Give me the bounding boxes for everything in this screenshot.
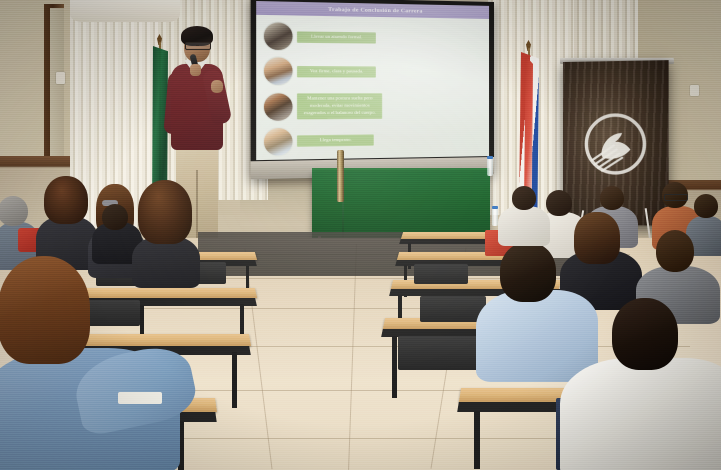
- desk-leg: [392, 336, 397, 398]
- slide-bullet-text: Llevar un atuendo formal.: [297, 31, 376, 43]
- eyeglasses-icon: [185, 42, 211, 50]
- slide-bullet-text: Mantener una postura suelta pero moderad…: [297, 93, 382, 119]
- slide-body: Llevar un atuendo formal. Voz firme, cla…: [256, 15, 489, 160]
- slide-bullet-text: Llega temprano.: [297, 135, 374, 147]
- paper-on-desk: [118, 392, 162, 404]
- speaker-hand-right: [211, 80, 223, 93]
- student-white-shirt-front: [560, 298, 721, 470]
- water-bottle-cap: [487, 156, 493, 159]
- student-head: [138, 180, 192, 244]
- student-head: [500, 242, 556, 302]
- door-panel-left: [50, 8, 64, 160]
- student-back-row-center: [498, 186, 550, 244]
- wall-outlet-right: [690, 85, 699, 96]
- photo-scene: Trabajo de Conclusión de Carrera Llevar …: [0, 0, 721, 470]
- curtain-valance: [70, 0, 180, 22]
- speaker-hand-holding-mic: [190, 64, 201, 76]
- stylized-bird-in-circle-logo: [581, 109, 650, 178]
- presentation-slide: Trabajo de Conclusión de Carrera Llevar …: [256, 1, 489, 160]
- student-torso: [498, 206, 550, 246]
- projection-screen: Trabajo de Conclusión de Carrera Llevar …: [251, 0, 494, 179]
- two-people-formal-attire-photo: [263, 21, 294, 51]
- student-head: [656, 230, 694, 272]
- chair-back: [414, 264, 468, 284]
- student-head: [44, 176, 88, 224]
- desk-leg: [232, 352, 237, 408]
- student-head: [102, 204, 128, 230]
- student-head: [0, 196, 28, 226]
- desk-leg: [474, 411, 480, 469]
- student-head: [694, 194, 718, 218]
- slide-bullet-text: Voz firme, clara y pausada.: [297, 66, 376, 78]
- student-head: [512, 186, 536, 210]
- microphone-stand: [337, 150, 344, 202]
- slide-bullet-row: Llega temprano.: [263, 124, 489, 158]
- student-denim-jacket: [0, 256, 220, 470]
- slide-bullet-row: Mantener una postura suelta pero moderad…: [263, 91, 489, 123]
- eyeglasses-icon: [664, 194, 688, 201]
- slide-bullet-row: Voz firme, clara y pausada.: [263, 55, 489, 87]
- person-with-clock-photo: [263, 127, 294, 157]
- person-gesturing-posture-photo: [263, 92, 294, 122]
- projection-screen-surface: Trabajo de Conclusión de Carrera Llevar …: [256, 1, 489, 160]
- woman-speaking-photo: [263, 57, 294, 87]
- student-head: [612, 298, 678, 370]
- slide-title: Trabajo de Conclusión de Carrera: [328, 6, 423, 14]
- student-head: [0, 256, 90, 364]
- wall-outlet-left: [56, 72, 65, 84]
- chair-back: [398, 336, 488, 370]
- slide-bullet-row: Llevar un atuendo formal.: [263, 20, 489, 54]
- student-head: [600, 186, 624, 210]
- student-torso: [560, 358, 721, 470]
- water-bottle-table: [487, 158, 493, 176]
